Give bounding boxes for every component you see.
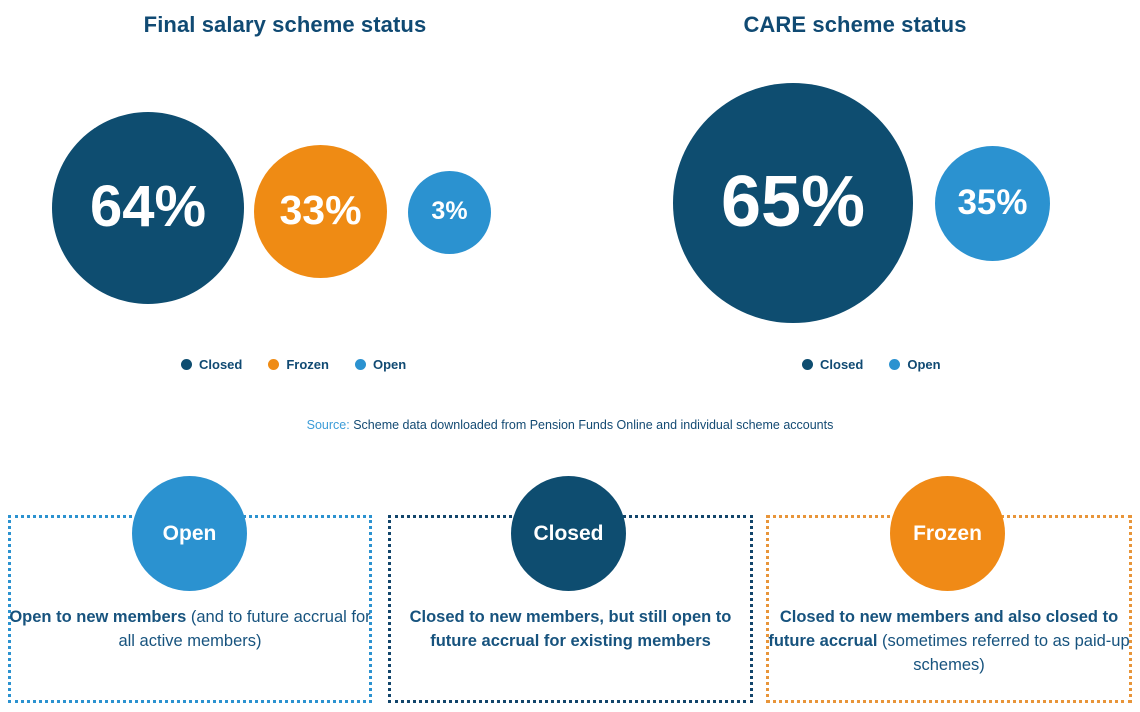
legend-dot-icon-closed (181, 359, 192, 370)
legend-dot-icon-open (889, 359, 900, 370)
bubble-final-salary-open: 3% (408, 171, 491, 254)
legend-item-closed: Closed (181, 357, 242, 372)
bubble-care-open: 35% (935, 146, 1050, 261)
legend-dot-icon-open (355, 359, 366, 370)
bubble-value-label: 35% (957, 185, 1027, 220)
definition-text-frozen: Closed to new members and also closed to… (766, 606, 1132, 678)
definition-badge-label: Closed (533, 522, 603, 546)
definition-badge-closed: Closed (511, 476, 626, 591)
legend-item-frozen: Frozen (268, 357, 329, 372)
bubble-value-label: 64% (90, 178, 206, 236)
bubble-value-label: 33% (279, 190, 361, 231)
source-note-label: Source: (307, 418, 350, 432)
legend-item-label: Frozen (286, 357, 329, 372)
source-note: Source: Scheme data downloaded from Pens… (0, 418, 1140, 432)
legend-care: Closed Open (802, 357, 941, 372)
bubble-care-closed: 65% (673, 83, 913, 323)
legend-item-open: Open (355, 357, 406, 372)
page-title-final-salary: Final salary scheme status (0, 12, 570, 38)
definition-badge-label: Frozen (913, 522, 982, 546)
legend-item-closed: Closed (802, 357, 863, 372)
definition-badge-open: Open (132, 476, 247, 591)
definition-badge-frozen: Frozen (890, 476, 1005, 591)
page-title-care: CARE scheme status (570, 12, 1140, 38)
legend-item-open: Open (889, 357, 940, 372)
legend-final-salary: Closed Frozen Open (181, 357, 406, 372)
definition-badge-label: Open (163, 522, 217, 546)
bubble-final-salary-frozen: 33% (254, 145, 387, 278)
definition-text-closed: Closed to new members, but still open to… (388, 606, 753, 654)
definition-text-bold: Closed to new members, but still open to… (410, 608, 732, 650)
definition-text-bold: Open to new members (9, 608, 186, 626)
bubble-value-label: 3% (431, 199, 467, 224)
bubble-final-salary-closed: 64% (52, 112, 244, 304)
legend-item-label: Closed (820, 357, 863, 372)
bubble-value-label: 65% (721, 166, 865, 238)
legend-item-label: Closed (199, 357, 242, 372)
source-note-text: Scheme data downloaded from Pension Fund… (353, 418, 833, 432)
legend-dot-icon-closed (802, 359, 813, 370)
legend-item-label: Open (373, 357, 406, 372)
definition-text-open: Open to new members (and to future accru… (8, 606, 372, 654)
legend-dot-icon-frozen (268, 359, 279, 370)
definition-text-light: (sometimes referred to as paid-up scheme… (882, 632, 1130, 674)
legend-item-label: Open (907, 357, 940, 372)
